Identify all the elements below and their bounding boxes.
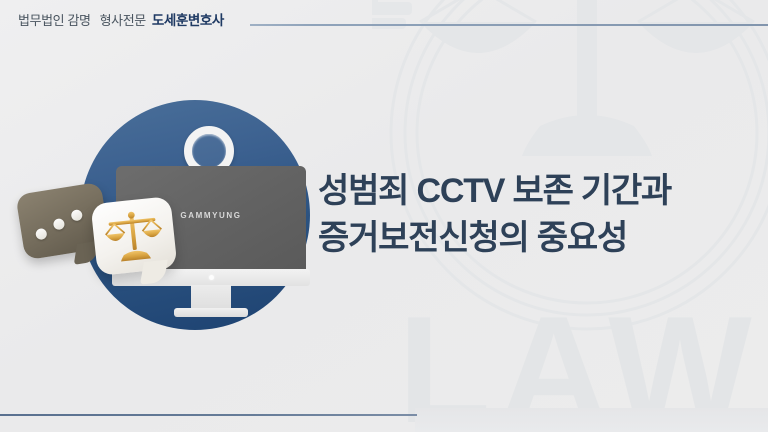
brand-specialty-label: 형사전문 <box>100 10 146 29</box>
typing-dots <box>33 207 96 242</box>
law-watermark-text: LAW <box>398 294 760 432</box>
speech-bubble-scales-icon <box>90 196 177 276</box>
header-bar: 법무법인 감명 형사전문 도세훈변호사 <box>0 0 768 38</box>
brand-firm-label: 법무법인 감명 <box>18 10 91 29</box>
brand-lockup: 법무법인 감명 형사전문 도세훈변호사 <box>18 9 224 29</box>
monitor-stand-foot <box>174 308 248 317</box>
hero-illustration: GAMMYUNG <box>18 88 328 320</box>
monitor-stand-neck <box>191 285 231 310</box>
dot-1 <box>35 228 48 241</box>
header-rule-line <box>250 24 768 26</box>
monitor-camera-dot <box>209 275 214 280</box>
bottom-rule-line <box>0 414 417 416</box>
scales-of-justice-icon <box>102 207 165 265</box>
dot-3 <box>70 209 83 222</box>
title-line-2: 증거보전신청의 중요성 <box>318 215 748 262</box>
dot-2 <box>53 218 66 231</box>
title-line-1: 성범죄 CCTV 보존 기간과 <box>318 168 748 215</box>
page-title: 성범죄 CCTV 보존 기간과 증거보전신청의 중요성 <box>318 168 748 262</box>
bottom-right-panel <box>415 408 768 432</box>
brand-attorney-name: 도세훈변호사 <box>152 9 224 29</box>
banner-canvas: LAW 법무법인 감명 형사전문 도세훈변호사 성범죄 CCTV 보존 기간과 … <box>0 0 768 432</box>
